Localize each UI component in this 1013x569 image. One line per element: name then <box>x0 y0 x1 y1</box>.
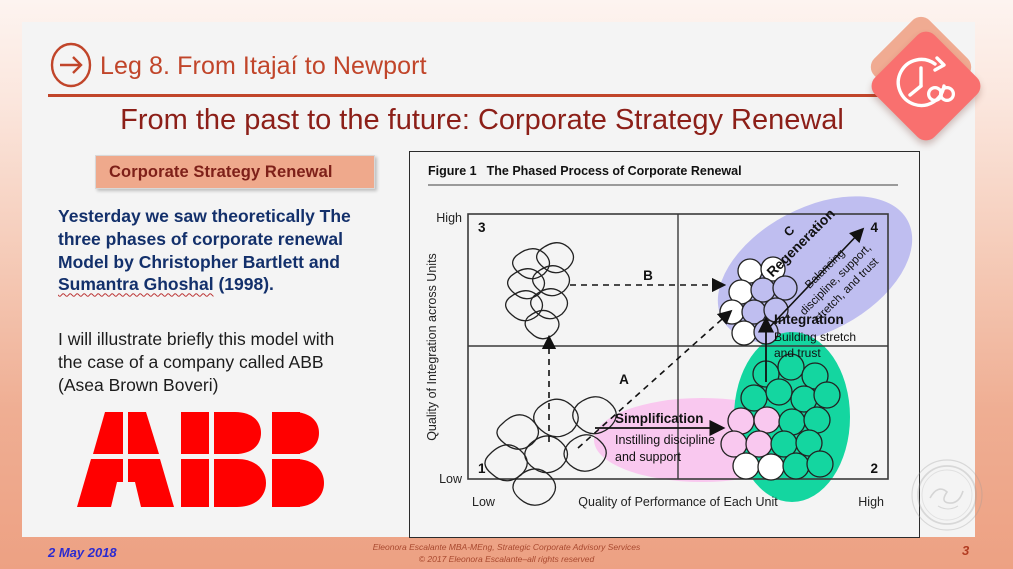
phase-desc-integration-l2: and trust <box>774 346 821 360</box>
phase-desc-simplification-l2: and support <box>615 450 682 464</box>
intro-bold-part2: (1998). <box>214 274 274 294</box>
quadrant-label-2: 2 <box>870 461 878 476</box>
cluster-quadrant-2 <box>721 354 840 480</box>
page-number: 3 <box>962 543 969 558</box>
page-title: From the past to the future: Corporate S… <box>52 104 912 137</box>
cluster-quadrant-3 <box>506 243 574 339</box>
clock-infinity-glyph <box>890 50 964 124</box>
y-axis-label: Quality of Integration across Units <box>425 253 439 441</box>
footer-credit-line1: Eleonora Escalante MBA-MEng, Strategic C… <box>0 541 1013 553</box>
y-tick-low: Low <box>439 472 463 486</box>
x-tick-high: High <box>858 495 884 509</box>
circled-right-arrow-icon <box>48 42 94 88</box>
phase-desc-integration-l1: Building stretch <box>774 330 856 344</box>
footer-credit-line2: © 2017 Eleonora Escalante–all rights res… <box>0 553 1013 565</box>
status-badge-label: Corporate Strategy Renewal <box>96 163 333 182</box>
clock-infinity-icon <box>868 26 1000 158</box>
status-badge: Corporate Strategy Renewal <box>95 155 375 189</box>
intro-bold-names: Sumantra Ghoshal <box>58 274 214 294</box>
intro-paragraph-bold: Yesterday we saw theoretically The three… <box>58 205 358 296</box>
header-divider-rule <box>48 94 902 97</box>
x-tick-low: Low <box>472 495 496 509</box>
x-axis-label: Quality of Performance of Each Unit <box>578 495 778 509</box>
seal-watermark <box>908 456 986 534</box>
phase-label-simplification: Simplification <box>615 411 704 426</box>
footer-credit: Eleonora Escalante MBA-MEng, Strategic C… <box>0 541 1013 566</box>
transition-label-A: A <box>619 372 629 387</box>
cluster-quadrant-1 <box>485 397 616 506</box>
abb-logo <box>75 412 327 507</box>
slide: Leg 8. From Itajaí to Newport From the p… <box>0 0 1013 569</box>
y-tick-high: High <box>436 211 462 225</box>
figure-panel: Figure 1The Phased Process of Corporate … <box>409 151 920 538</box>
phased-process-chart: High Low Quality of Integration across U… <box>410 152 919 537</box>
phase-label-integration: Integration <box>774 312 844 327</box>
quadrant-label-4: 4 <box>870 220 878 235</box>
slide-kicker: Leg 8. From Itajaí to Newport <box>100 52 427 81</box>
phase-desc-simplification-l1: Instilling discipline <box>615 433 715 447</box>
transition-label-B: B <box>643 268 653 283</box>
intro-paragraph-plain: I will illustrate briefly this model wit… <box>58 328 363 396</box>
quadrant-label-3: 3 <box>478 220 486 235</box>
intro-bold-part1: Yesterday we saw theoretically The three… <box>58 206 351 272</box>
